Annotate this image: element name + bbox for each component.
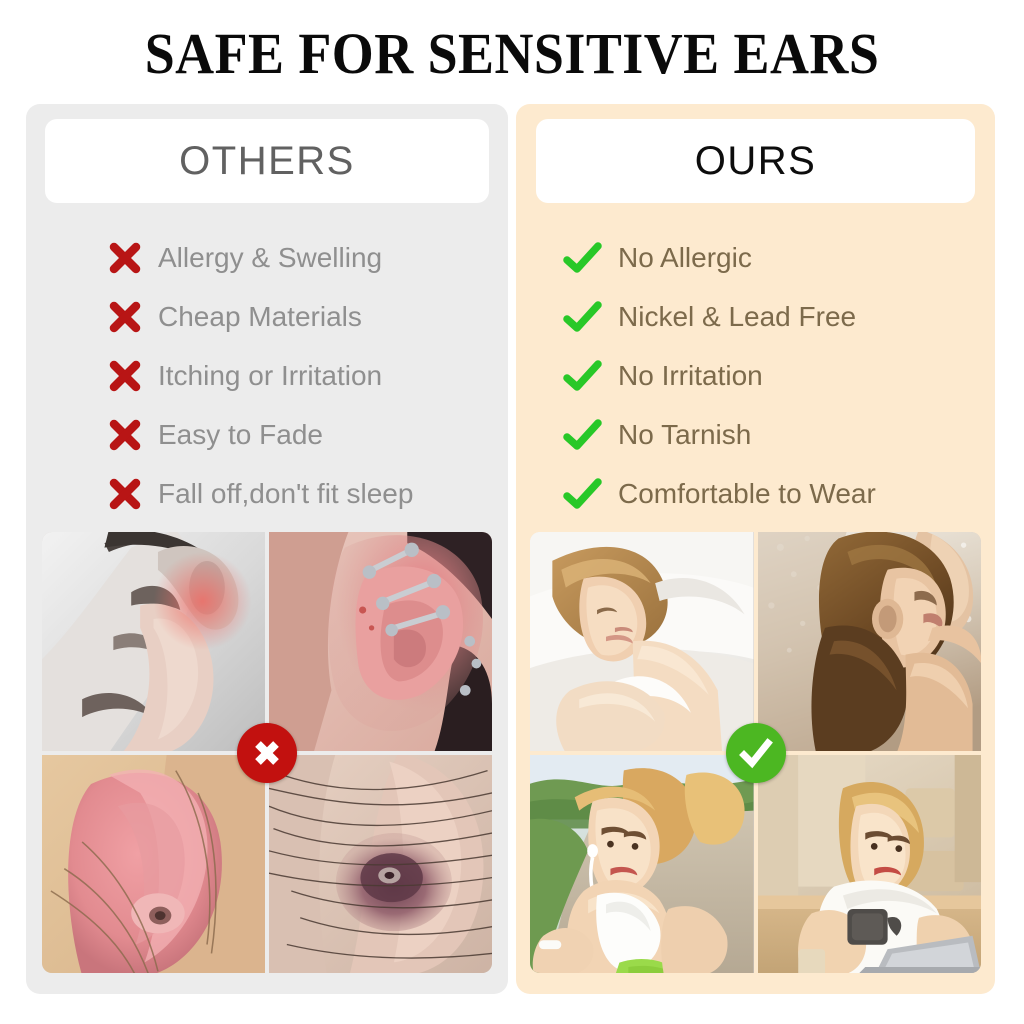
check-icon (560, 477, 606, 511)
others-photo-grid (42, 532, 492, 973)
cross-icon (102, 300, 148, 334)
check-icon (560, 359, 606, 393)
green-circle-check-badge (726, 723, 786, 783)
list-item-label: Nickel & Lead Free (618, 301, 856, 333)
ours-header-label: OURS (695, 139, 817, 184)
list-item: Nickel & Lead Free (516, 287, 995, 346)
others-header-card: OTHERS (45, 119, 489, 203)
photo-red-swollen-earlobe-piercing (42, 755, 265, 974)
photo-woman-sleeping-on-pillow (530, 532, 754, 751)
list-item: Easy to Fade (26, 405, 508, 464)
list-item-label: Comfortable to Wear (618, 478, 876, 510)
list-item: Cheap Materials (26, 287, 508, 346)
photo-woman-in-shower-water (758, 532, 982, 751)
page-title: SAFE FOR SENSITIVE EARS (36, 22, 988, 86)
others-header-label: OTHERS (179, 139, 355, 184)
cross-icon (102, 359, 148, 393)
cross-icon (102, 418, 148, 452)
list-item-label: No Tarnish (618, 419, 751, 451)
cross-icon (102, 477, 148, 511)
photo-woman-holding-painful-ear-bw (42, 532, 265, 751)
list-item: No Allergic (516, 228, 995, 287)
ours-photo-grid (530, 532, 981, 973)
list-item-label: No Allergic (618, 242, 752, 274)
others-comparison-panel: OTHERS Allergy & Swelling (26, 104, 508, 994)
photo-woman-running-with-earphones (530, 755, 754, 974)
photo-swollen-pierced-ear-closeup (269, 532, 492, 751)
check-icon (560, 241, 606, 275)
list-item: No Irritation (516, 346, 995, 405)
red-circle-cross-badge (237, 723, 297, 783)
list-item: Fall off,don't fit sleep (26, 464, 508, 523)
list-item-label: Itching or Irritation (158, 360, 382, 392)
photo-woman-working-at-laptop-with-mug (758, 755, 982, 974)
list-item-label: Fall off,don't fit sleep (158, 478, 413, 510)
ours-feature-list: No Allergic Nickel & Lead Free No Irrita… (516, 228, 995, 523)
ours-comparison-panel: OURS No Allergic Nickel & Lead Free (516, 104, 995, 994)
list-item-label: Cheap Materials (158, 301, 362, 333)
list-item: Allergy & Swelling (26, 228, 508, 287)
list-item: Itching or Irritation (26, 346, 508, 405)
list-item: No Tarnish (516, 405, 995, 464)
photo-infected-earlobe-dark-bruise (269, 755, 492, 974)
list-item: Comfortable to Wear (516, 464, 995, 523)
cross-icon (102, 241, 148, 275)
others-feature-list: Allergy & Swelling Cheap Materials (26, 228, 508, 523)
list-item-label: No Irritation (618, 360, 763, 392)
check-icon (560, 300, 606, 334)
list-item-label: Easy to Fade (158, 419, 323, 451)
ours-header-card: OURS (536, 119, 975, 203)
check-icon (560, 418, 606, 452)
list-item-label: Allergy & Swelling (158, 242, 382, 274)
